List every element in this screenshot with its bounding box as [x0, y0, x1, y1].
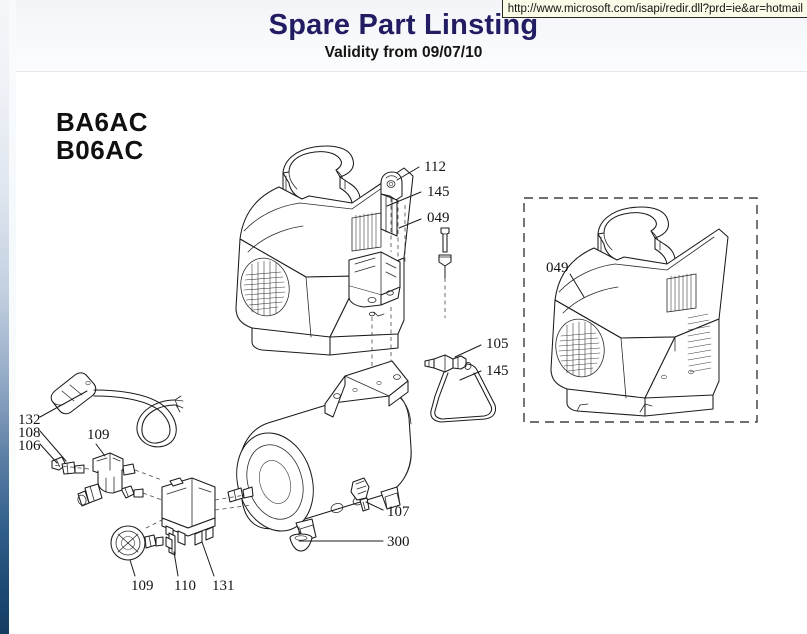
- model-code-primary: BA6AC: [56, 108, 148, 136]
- page-subtitle: Validity from 09/07/10: [0, 44, 807, 62]
- spare-part-listing-page: Spare Part Linsting Validity from 09/07/…: [0, 0, 807, 634]
- model-code-list: BA6AC B06AC: [56, 108, 148, 164]
- left-edge-gradient-bar: [0, 0, 9, 634]
- status-bar-url-tooltip: http://www.microsoft.com/isapi/redir.dll…: [502, 0, 807, 18]
- canvas-top-divider: [16, 71, 807, 72]
- model-code-secondary: B06AC: [56, 136, 148, 164]
- left-edge-soft-bar: [9, 0, 16, 634]
